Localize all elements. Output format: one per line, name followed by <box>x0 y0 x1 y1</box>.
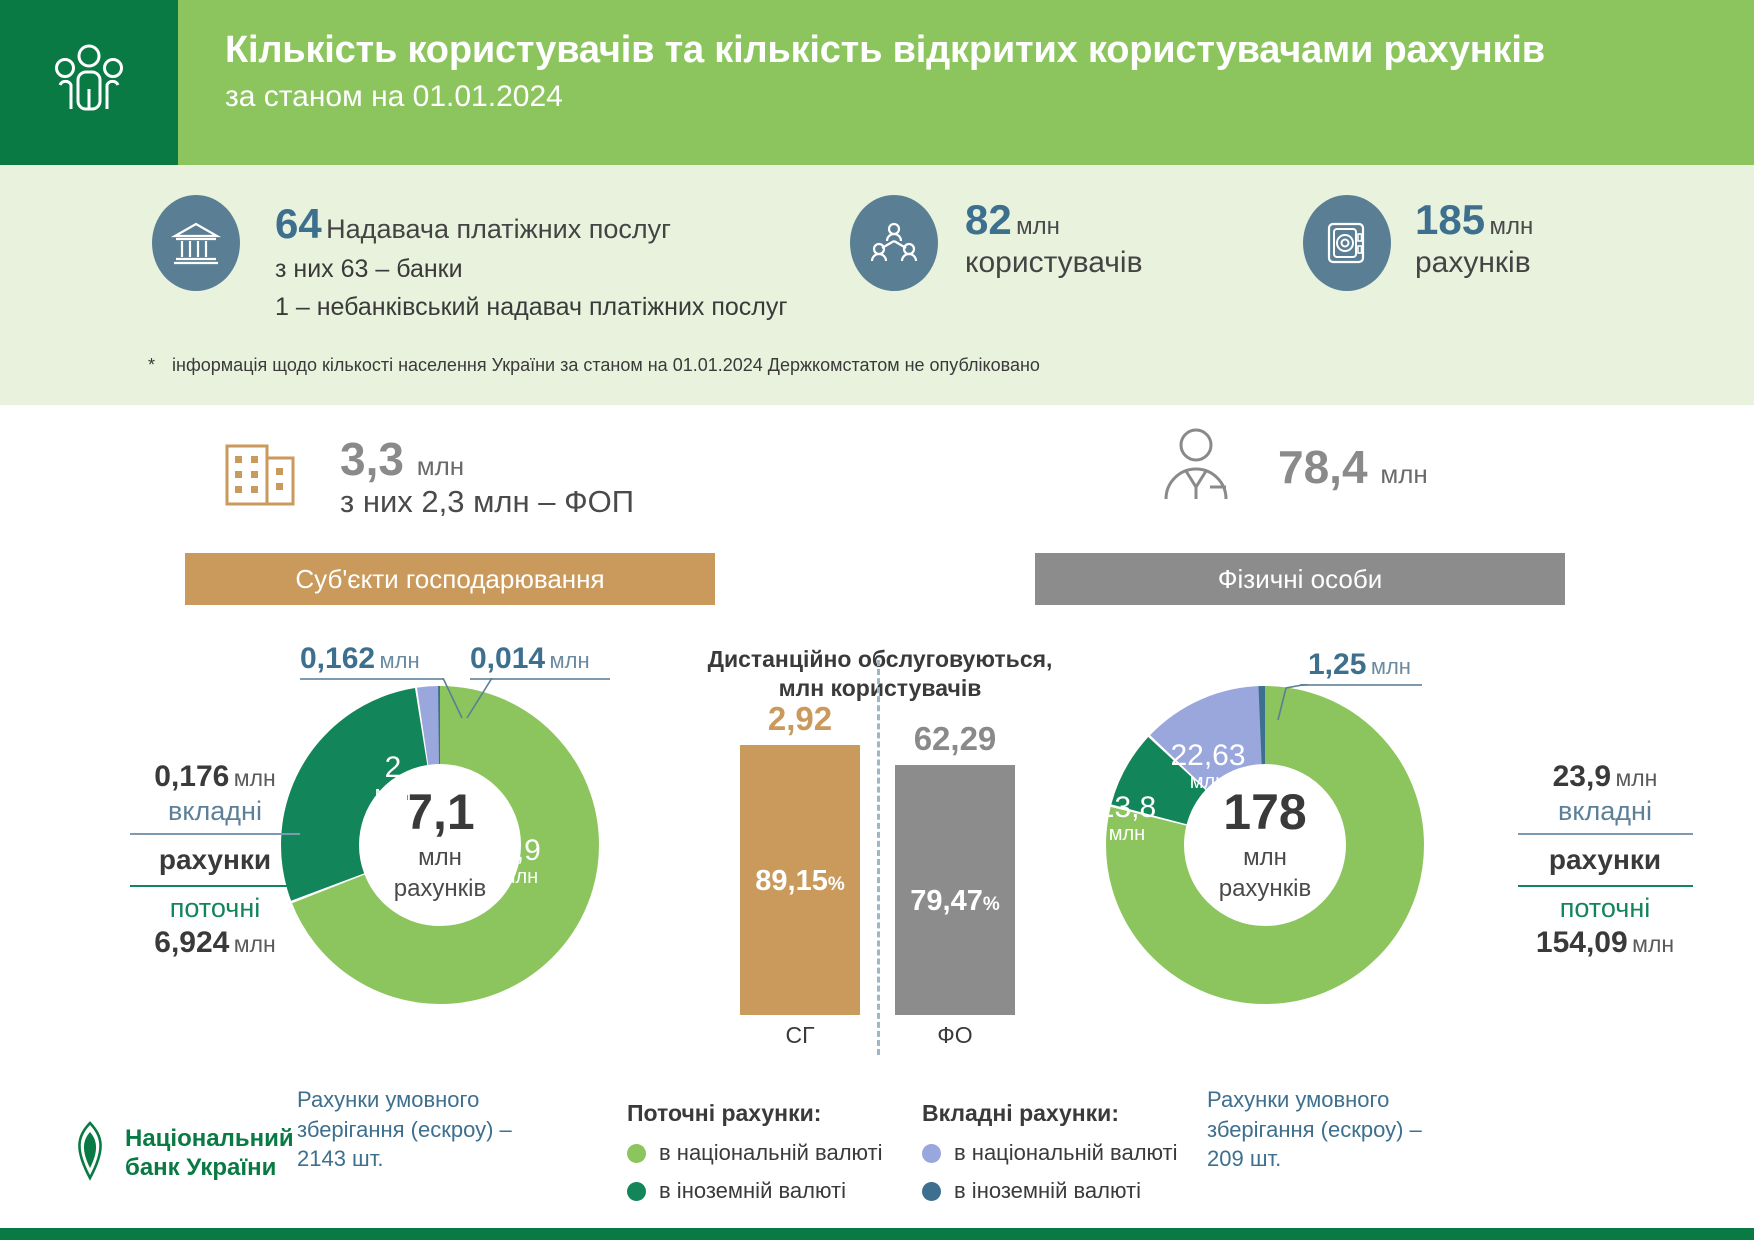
header-text-block: Кількість користувачів та кількість відк… <box>225 28 1725 114</box>
escrow-note-fo: Рахунки умовного зберігання (ескроу) – 2… <box>1207 1085 1422 1174</box>
accounts-unit: млн <box>1490 213 1534 240</box>
banner-sg: Суб'єкти господарювання <box>185 553 715 605</box>
legend-dot-periwinkle <box>922 1144 941 1163</box>
accounts-value: 185 <box>1415 196 1485 243</box>
accounts-word: рахунків <box>1415 246 1533 280</box>
side-sg-current-unit: млн <box>234 931 276 957</box>
sg-unit: млн <box>417 451 464 481</box>
office-building-icon <box>222 430 300 513</box>
donut-fo-total-word: рахунків <box>1219 875 1312 903</box>
bar-fo-top-value: 62,29 <box>880 720 1030 758</box>
legend-label: в іноземній валюті <box>954 1178 1141 1204</box>
side-sg-deposit-unit: млн <box>234 765 276 791</box>
side-fo-current-word: поточні <box>1480 893 1730 924</box>
bar-sg-caption: СГ <box>740 1022 860 1049</box>
nbu-logo-icon <box>68 1120 112 1187</box>
banner-fo: Фізичні особи <box>1035 553 1565 605</box>
side-fo-current: поточні 154,09 млн <box>1480 893 1730 960</box>
providers-sub-banks: з них 63 – банки <box>275 255 463 284</box>
footnote-star: * <box>148 355 155 375</box>
providers-headline: 64 Надавача платіжних послуг <box>275 200 671 248</box>
callout-fo-rule <box>1300 684 1422 686</box>
callout-sg-right-value: 0,014 <box>470 642 545 675</box>
side-sg-current-value: 6,924 <box>154 926 229 959</box>
slice-sg-dark-value: 2 <box>358 752 428 784</box>
side-sg-current: поточні 6,924 млн <box>95 893 335 960</box>
slice-fo-blue-value: 22,63 <box>1148 740 1268 772</box>
footnote: * інформація щодо кількості населення Ук… <box>148 355 1040 376</box>
slice-fo-light-value: 140,3 <box>1200 1000 1310 1032</box>
bar-sg-percent-symbol: % <box>828 874 845 895</box>
slice-fo-blue-unit: млн <box>1148 772 1268 793</box>
side-sg-deposit: 0,176 млн вкладні <box>95 760 335 827</box>
side-fo-middle: рахунки <box>1480 844 1730 876</box>
callout-sg-leader-lines <box>410 678 500 725</box>
slice-label-fo-dark-green: 13,8 млн <box>1082 792 1172 845</box>
providers-label: Надавача платіжних послуг <box>326 214 671 244</box>
side-fo-deposit-value: 23,9 <box>1553 760 1611 793</box>
bar-fo-percent: 79,47% <box>895 885 1015 918</box>
side-fo-rule-top <box>1518 833 1693 835</box>
bar-fo-percent-value: 79,47 <box>910 885 983 917</box>
legend-item: в іноземній валюті <box>922 1178 1178 1204</box>
middle-title-line1: Дистанційно обслуговуються, <box>708 646 1053 672</box>
slice-label-sg-light-green: 4,9 млн <box>480 835 560 888</box>
users-unit: млн <box>1016 213 1060 240</box>
legend-deposit-accounts: Вкладні рахунки: в національній валюті в… <box>922 1100 1178 1216</box>
slice-fo-dark-value: 13,8 <box>1082 792 1172 824</box>
safe-vault-icon <box>1303 195 1391 291</box>
slice-sg-dark-unit: млн <box>358 784 428 805</box>
bar-sg-top-value: 2,92 <box>725 700 875 738</box>
legend-label: в національній валюті <box>954 1140 1178 1166</box>
page-subtitle: за станом на 01.01.2024 <box>225 80 1725 114</box>
side-sg-deposit-word: вкладні <box>95 796 335 827</box>
middle-chart-title: Дистанційно обслуговуються, млн користув… <box>700 645 1060 703</box>
sg-subtext: з них 2,3 млн – ФОП <box>340 484 634 520</box>
slice-sg-light-unit: млн <box>480 867 560 888</box>
side-fo-deposit-unit: млн <box>1615 765 1657 791</box>
side-fo-deposit: 23,9 млн вкладні <box>1480 760 1730 827</box>
page-header: Кількість користувачів та кількість відк… <box>0 0 1754 165</box>
providers-sub-nonbank: 1 – небанківський надавач платіжних посл… <box>275 293 788 322</box>
callout-sg-deposit-fx: 0,014 млн <box>470 642 590 676</box>
side-fo-current-unit: млн <box>1632 931 1674 957</box>
side-sg-rule-top <box>130 833 300 835</box>
providers-value: 64 <box>275 200 322 247</box>
bar-fo-percent-symbol: % <box>983 894 1000 915</box>
slice-label-fo-blue: 22,63 млн <box>1148 740 1268 793</box>
legend-dot-green-dark <box>627 1182 646 1201</box>
header-icon-box <box>0 0 178 165</box>
sg-headline-value: 3,3 млн <box>340 432 464 486</box>
side-fo-rule-bottom <box>1518 885 1693 887</box>
users-value: 82 <box>965 196 1012 243</box>
legend-current-accounts: Поточні рахунки: в національній валюті в… <box>627 1100 883 1216</box>
side-fo-deposit-word: вкладні <box>1480 796 1730 827</box>
slice-sg-light-value: 4,9 <box>480 835 560 867</box>
slice-label-sg-dark-green: 2 млн <box>358 752 428 805</box>
slice-fo-dark-unit: млн <box>1082 824 1172 845</box>
fo-unit: млн <box>1380 459 1427 489</box>
legend-current-head: Поточні рахунки: <box>627 1100 883 1127</box>
callout-fo-unit: млн <box>1371 654 1411 679</box>
callout-fo-deposit-fx: 1,25 млн <box>1308 648 1411 682</box>
bottom-bar <box>0 1228 1754 1240</box>
nbu-logo-line1: Національний <box>125 1125 294 1152</box>
callout-fo-leader-line <box>1258 684 1318 727</box>
donut-fo-total: 178 <box>1223 787 1306 837</box>
bank-building-icon <box>152 195 240 291</box>
users-network-icon <box>850 195 938 291</box>
people-group-icon <box>48 39 130 126</box>
nbu-logo-line2: банк України <box>125 1154 276 1181</box>
side-fo-current-value: 154,09 <box>1536 926 1628 959</box>
users-word: користувачів <box>965 246 1143 280</box>
person-suit-icon <box>1150 425 1242 512</box>
accounts-stat-text: 185 млн рахунків <box>1415 196 1533 280</box>
fo-headline-value: 78,4 млн <box>1278 440 1428 494</box>
side-sg-middle: рахунки <box>95 844 335 876</box>
nbu-logo: Національний банк України <box>68 1120 294 1187</box>
slice-label-fo-light-green: 140,3 млн <box>1200 1000 1310 1053</box>
legend-item: в іноземній валюті <box>627 1178 883 1204</box>
legend-label: в національній валюті <box>659 1140 883 1166</box>
callout-sg-right-unit: млн <box>550 648 590 673</box>
middle-title-line2: млн користувачів <box>779 675 982 701</box>
side-sg-rule-bottom <box>130 885 300 887</box>
page-title: Кількість користувачів та кількість відк… <box>225 28 1725 74</box>
bar-fo-caption: ФО <box>895 1022 1015 1049</box>
side-sg-deposit-value: 0,176 <box>154 760 229 793</box>
bar-sg-percent: 89,15% <box>740 865 860 898</box>
callout-fo-value: 1,25 <box>1308 648 1366 681</box>
side-labels-fo: 23,9 млн вкладні рахунки поточні 154,09 … <box>1480 760 1730 960</box>
donut-sg-total-word: рахунків <box>394 875 487 903</box>
nbu-logo-text: Національний банк України <box>125 1125 294 1182</box>
legend-label: в іноземній валюті <box>659 1178 846 1204</box>
callout-sg-left-value: 0,162 <box>300 642 375 675</box>
fo-value: 78,4 <box>1278 441 1368 493</box>
side-labels-sg: 0,176 млн вкладні рахунки поточні 6,924 … <box>95 760 335 960</box>
users-stat-text: 82 млн користувачів <box>965 196 1143 280</box>
escrow-note-sg: Рахунки умовного зберігання (ескроу) – 2… <box>297 1085 512 1174</box>
donut-sg-total-unit: млн <box>418 844 462 872</box>
legend-deposit-head: Вкладні рахунки: <box>922 1100 1178 1127</box>
legend-dot-green-light <box>627 1144 646 1163</box>
legend-item: в національній валюті <box>627 1140 883 1166</box>
legend-dot-steel-blue <box>922 1182 941 1201</box>
callout-sg-left-unit: млн <box>380 648 420 673</box>
bar-sg-percent-value: 89,15 <box>755 865 828 897</box>
side-sg-current-word: поточні <box>95 893 335 924</box>
slice-fo-light-unit: млн <box>1200 1032 1310 1053</box>
callout-sg-deposit-uah: 0,162 млн <box>300 642 420 676</box>
footnote-text: інформація щодо кількості населення Укра… <box>172 355 1040 375</box>
donut-fo-total-unit: млн <box>1243 844 1287 872</box>
legend-item: в національній валюті <box>922 1140 1178 1166</box>
sg-value: 3,3 <box>340 433 404 485</box>
